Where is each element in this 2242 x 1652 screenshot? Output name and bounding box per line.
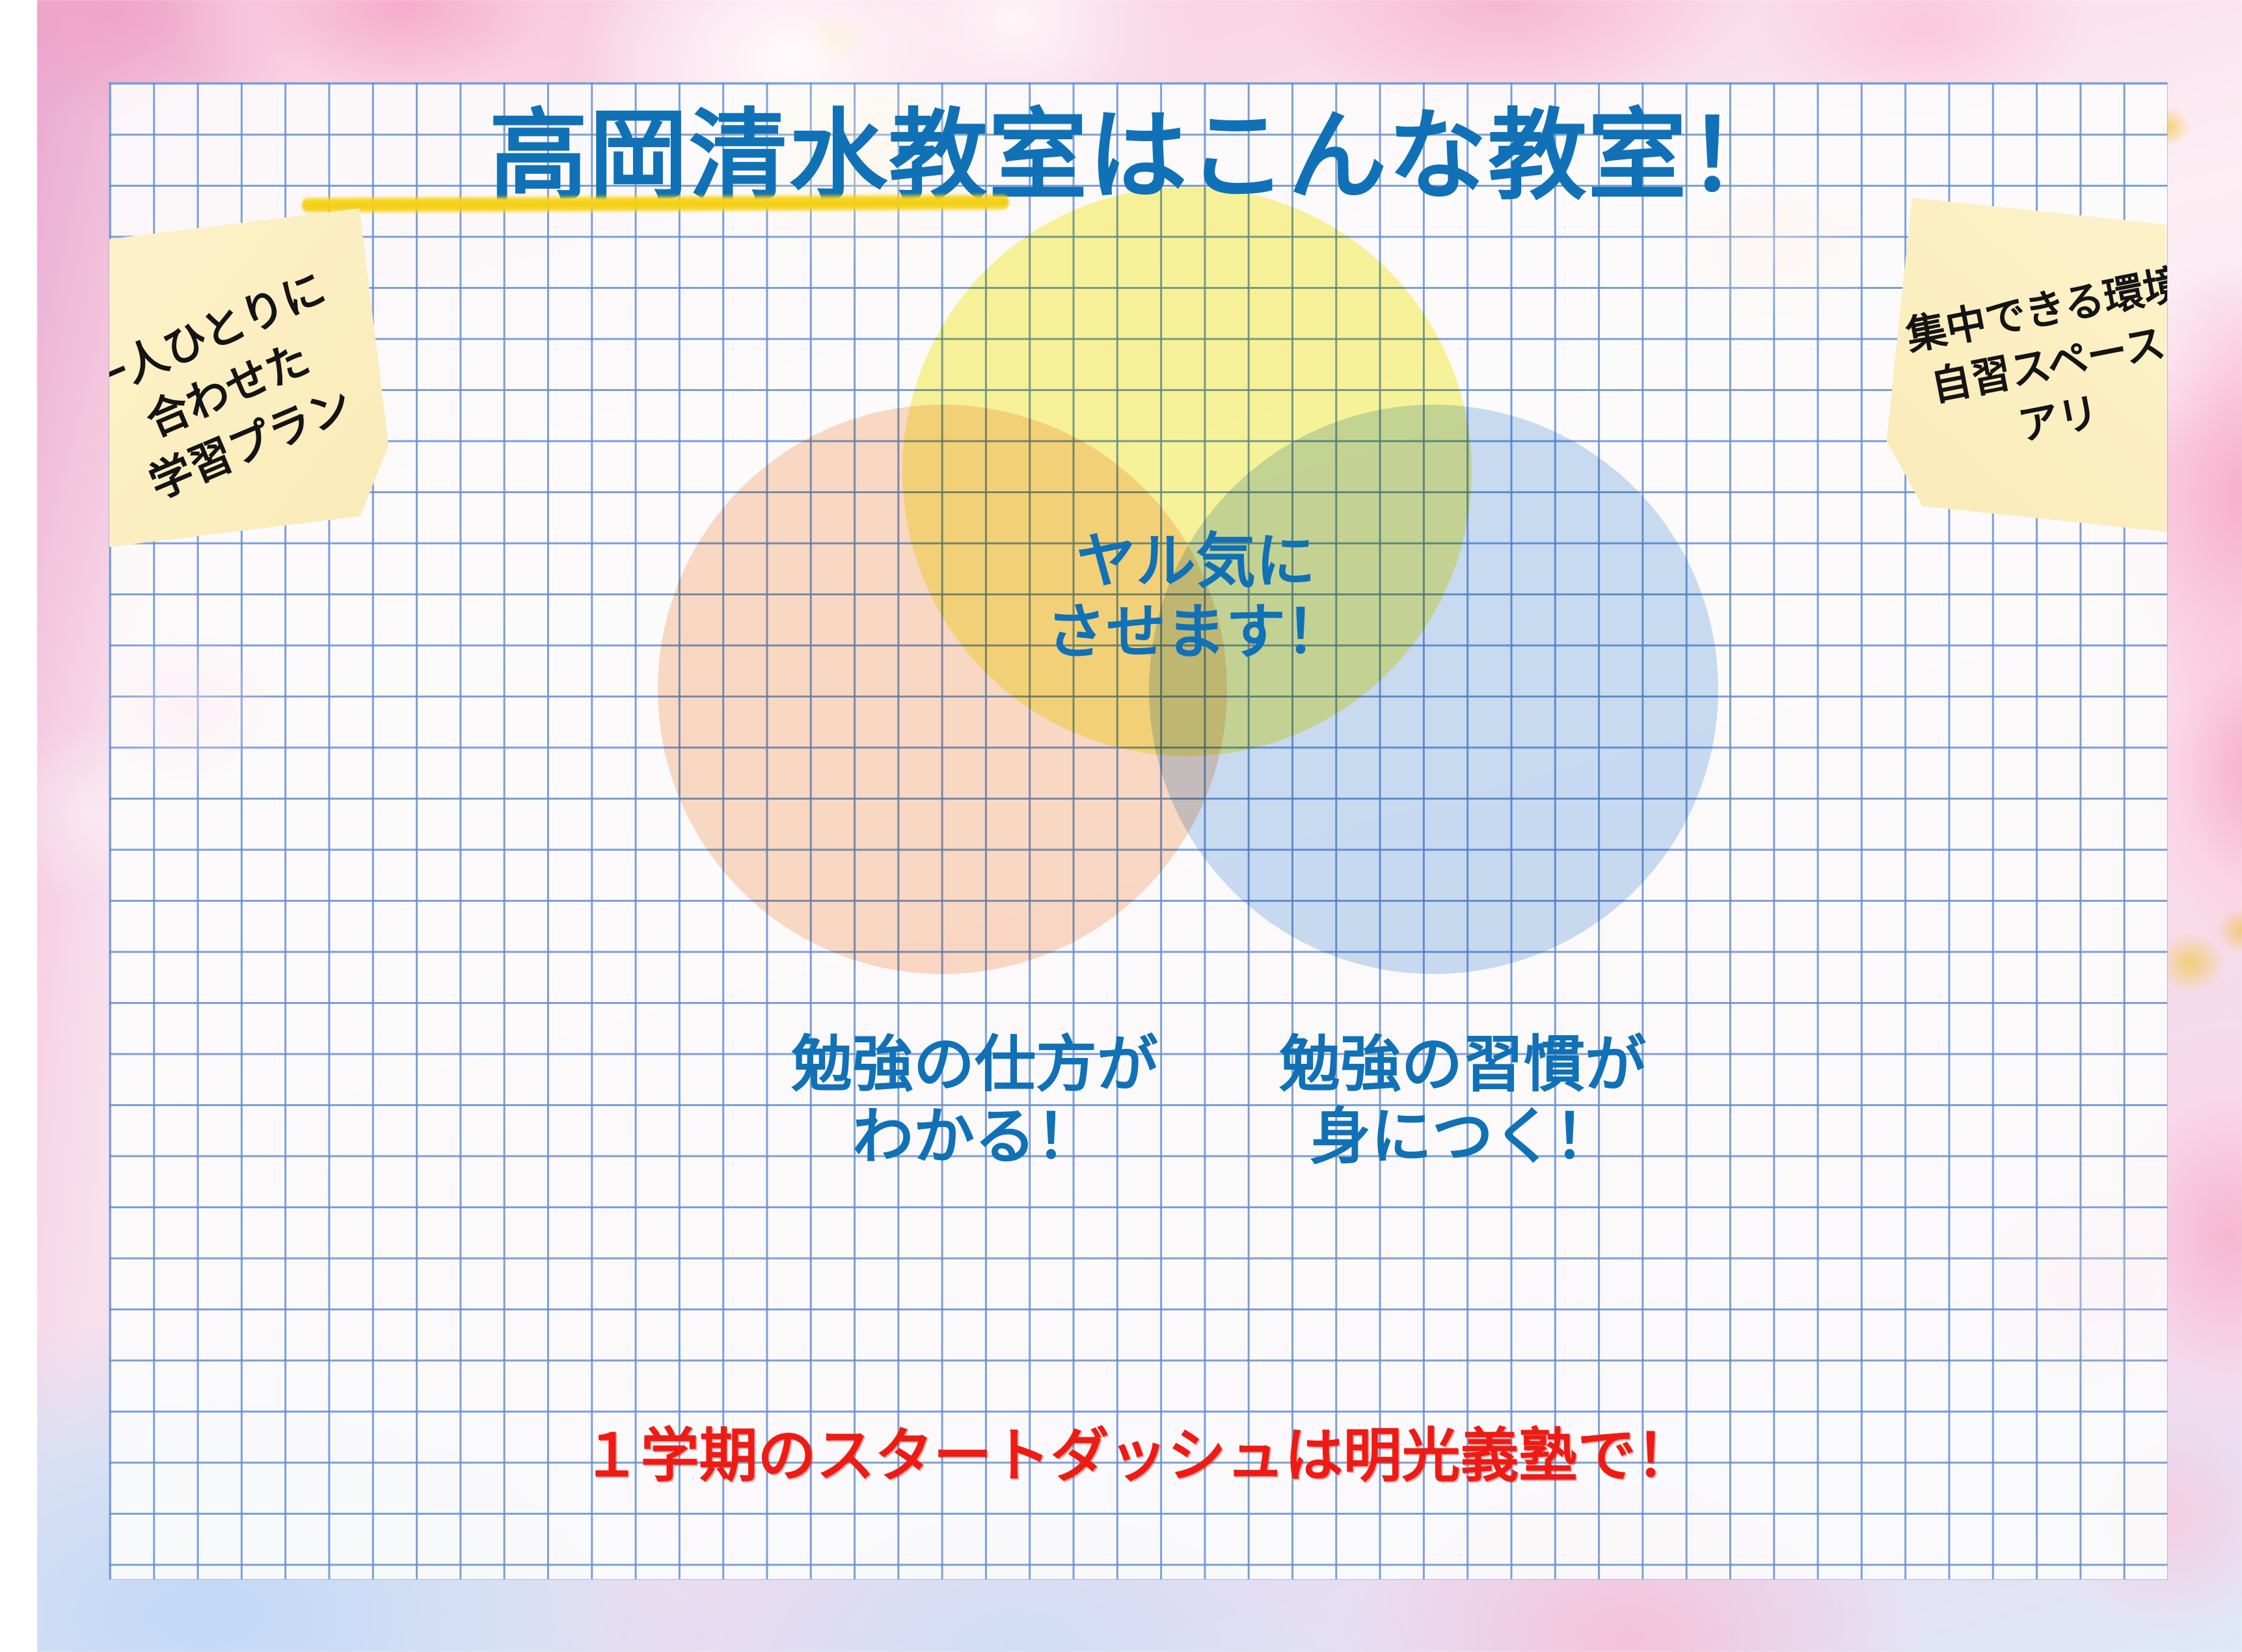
circle-label-shukan-line2: 身につく！	[1215, 1102, 1710, 1174]
circle-label-shukan-line1: 勉強の習慣が	[1279, 1029, 1646, 1102]
sticky-note-space-text: 集中できる環境 自習スペース アリ	[1902, 259, 2167, 472]
venn-circle-benkyou-shukan	[1149, 405, 1718, 974]
graph-paper-panel: 高岡清水教室はこんな教室！ ヤル気に させます！ 勉強の仕方が わかる！ 勉強の…	[109, 83, 2167, 1579]
circle-label-shikata-line1: 勉強の仕方が	[791, 1029, 1158, 1102]
bottom-tagline: １学期のスタートダッシュは明光義塾で！	[109, 1408, 2167, 1493]
title-highlighter-underline	[302, 193, 1009, 215]
circle-label-shikata-line2: わかる！	[727, 1102, 1222, 1174]
circle-label-benkyou-shikata: 勉強の仕方が わかる！	[727, 1029, 1222, 1174]
venn-circle-benkyou-shikata	[658, 405, 1227, 974]
page-title: 高岡清水教室はこんな教室！	[109, 107, 2167, 206]
circle-label-yaruki-line2: させます！	[968, 597, 1424, 668]
sticky-note-space: 集中できる環境 自習スペース アリ	[1880, 198, 2167, 534]
sticky-note-plan: 一人ひとりに 合わせた 学習プラン	[109, 208, 397, 549]
circle-label-yaruki-line1: ヤル気に	[1076, 526, 1316, 597]
sticky-note-plan-text: 一人ひとりに 合わせた 学習プラン	[109, 258, 382, 521]
title-block: 高岡清水教室はこんな教室！	[109, 107, 2167, 206]
circle-label-benkyou-shukan: 勉強の習慣が 身につく！	[1215, 1029, 1710, 1174]
circle-label-yaruki: ヤル気に させます！	[968, 526, 1424, 668]
